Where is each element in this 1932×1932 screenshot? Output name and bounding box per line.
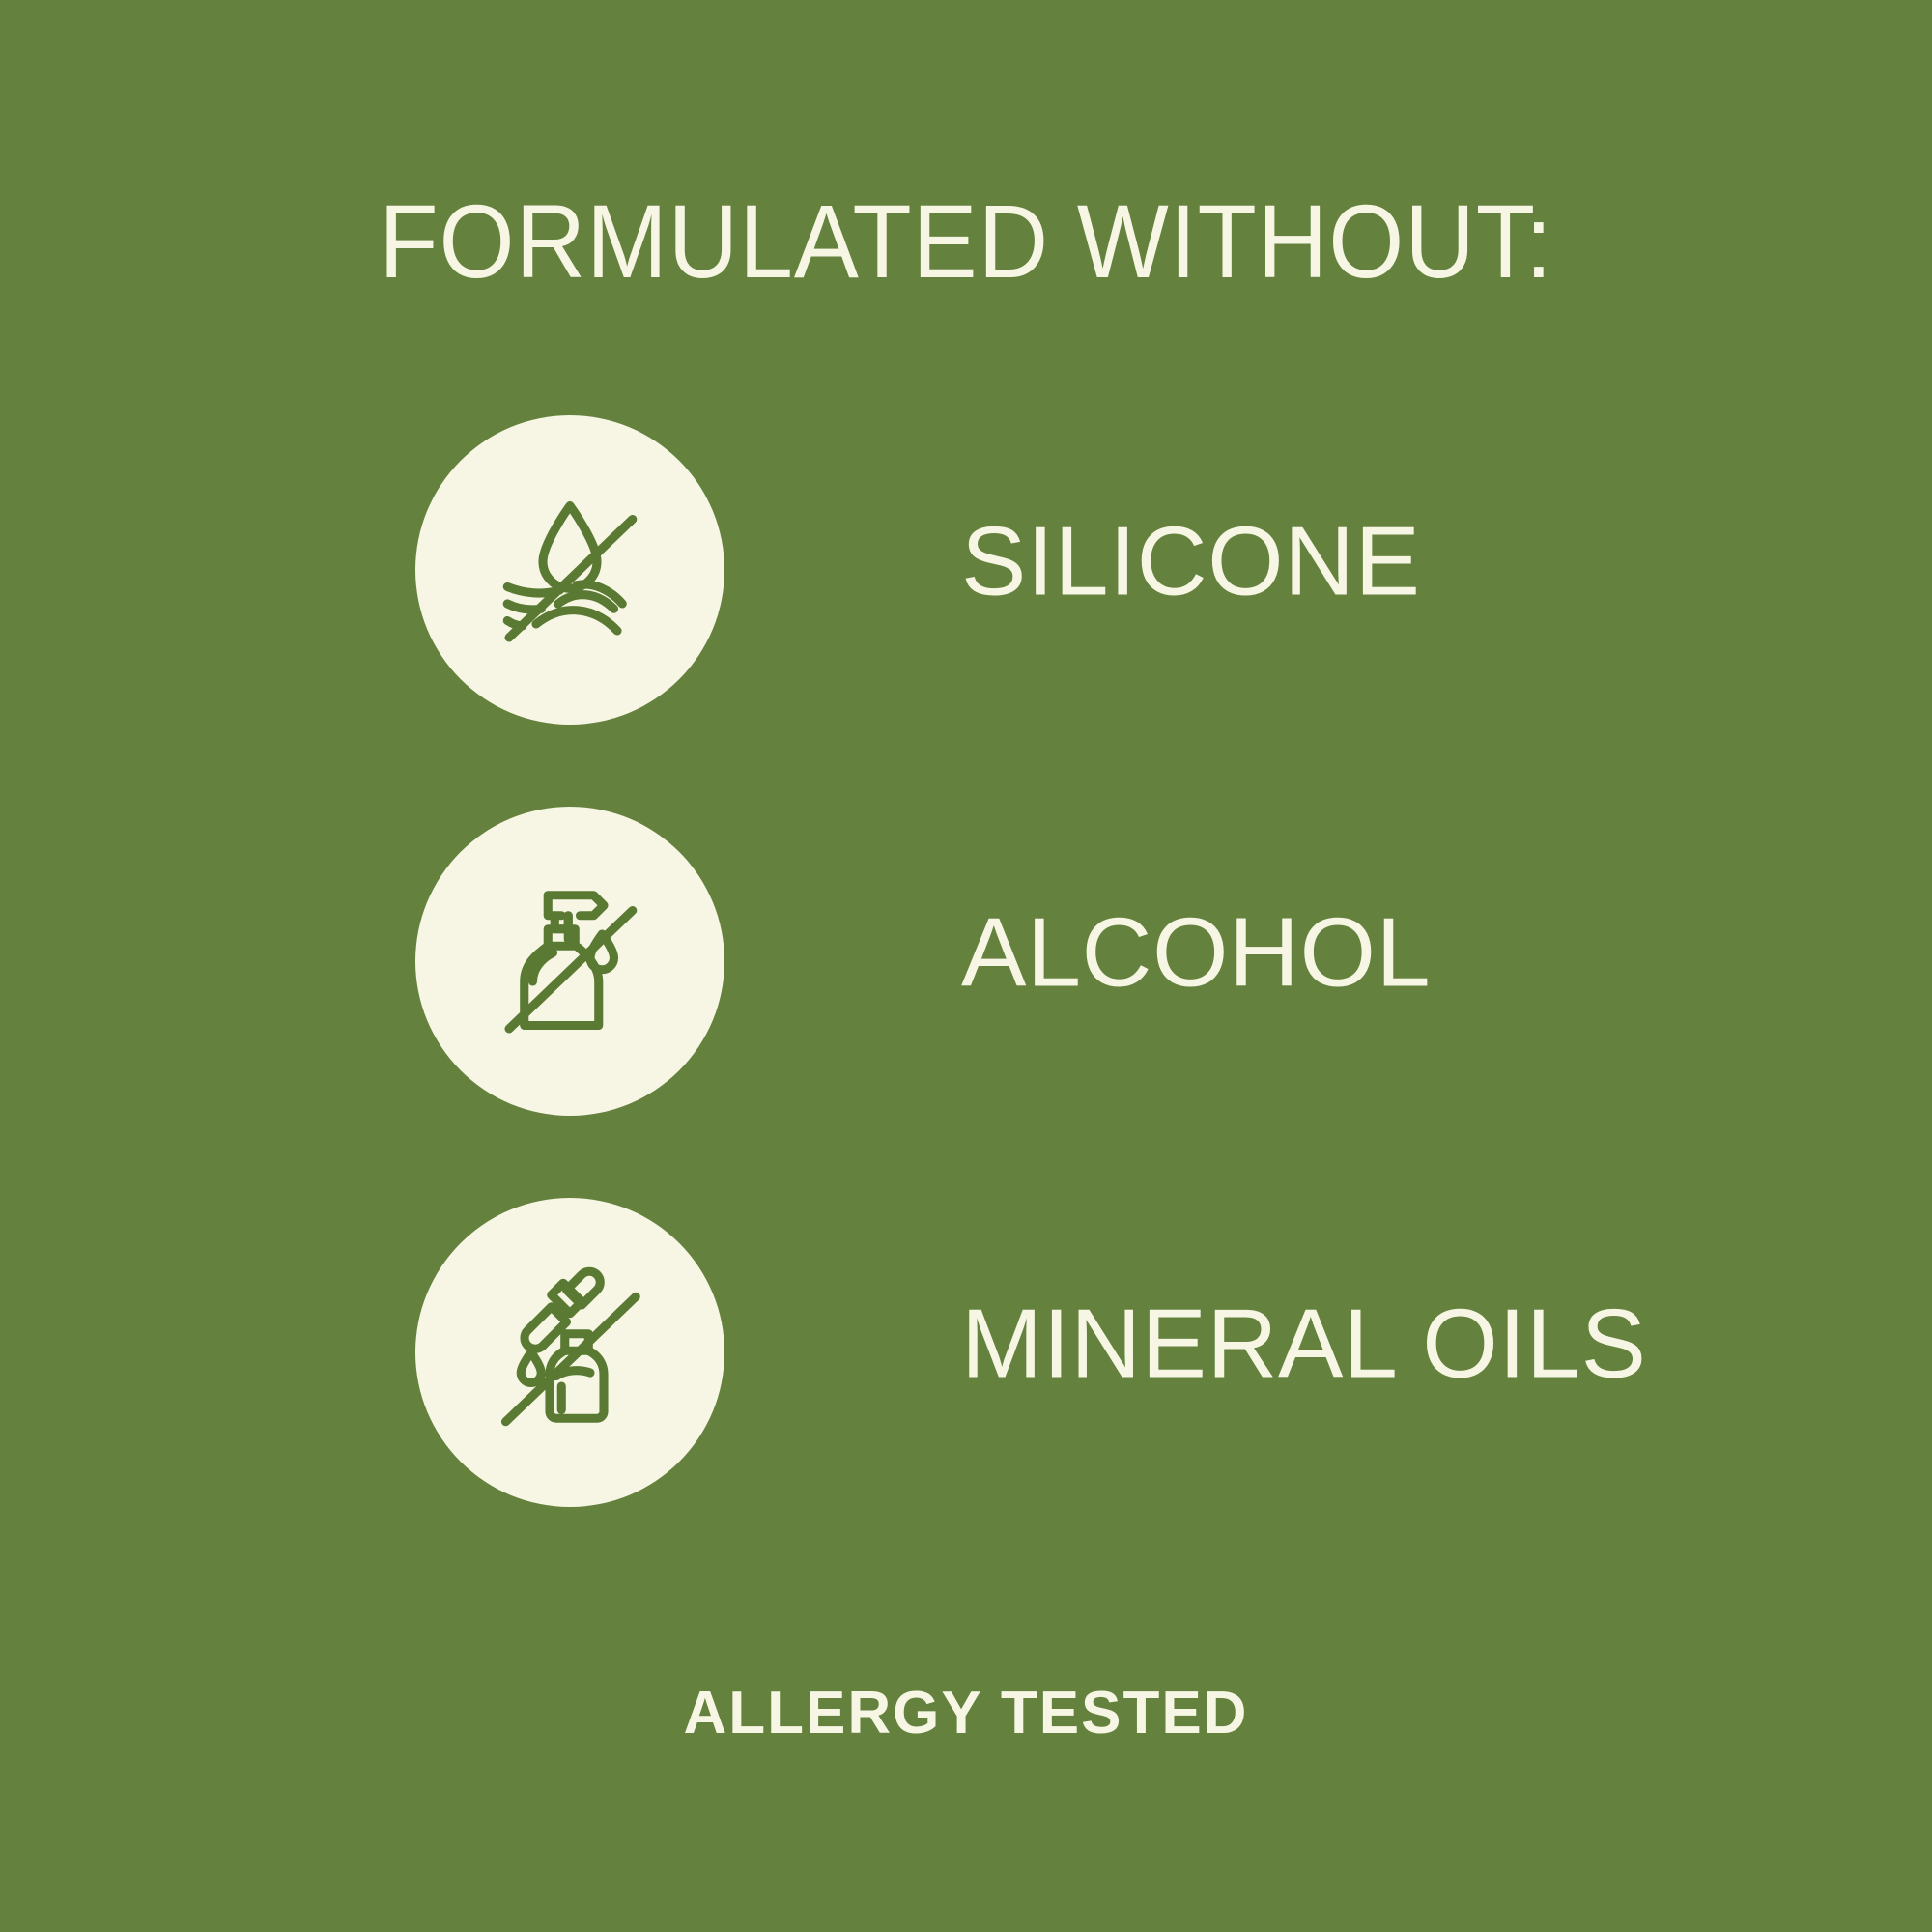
list-item-label: ALCOHOL bbox=[961, 905, 1431, 1003]
list-item: MINERAL OILS bbox=[0, 1198, 1932, 1589]
formulated-without-poster: FORMULATED WITHOUT: bbox=[0, 0, 1932, 1932]
badge-circle-mineral-oils bbox=[415, 1198, 724, 1507]
list-item-label: MINERAL OILS bbox=[961, 1296, 1646, 1394]
page-title: FORMULATED WITHOUT: bbox=[68, 189, 1864, 294]
list-item-label: SILICONE bbox=[961, 514, 1420, 611]
list-item: SILICONE bbox=[0, 415, 1932, 807]
no-silicone-droplet-skin-icon bbox=[469, 469, 671, 671]
badge-circle-silicone bbox=[415, 415, 724, 724]
benefit-list: SILICONE bbox=[0, 415, 1932, 1589]
no-mineral-oil-dropper-bottle-icon bbox=[469, 1251, 671, 1454]
allergy-tested-note: ALLERGY TESTED bbox=[0, 1684, 1932, 1744]
no-alcohol-pump-bottle-icon bbox=[469, 860, 671, 1063]
list-item: ALCOHOL bbox=[0, 807, 1932, 1198]
badge-circle-alcohol bbox=[415, 807, 724, 1116]
